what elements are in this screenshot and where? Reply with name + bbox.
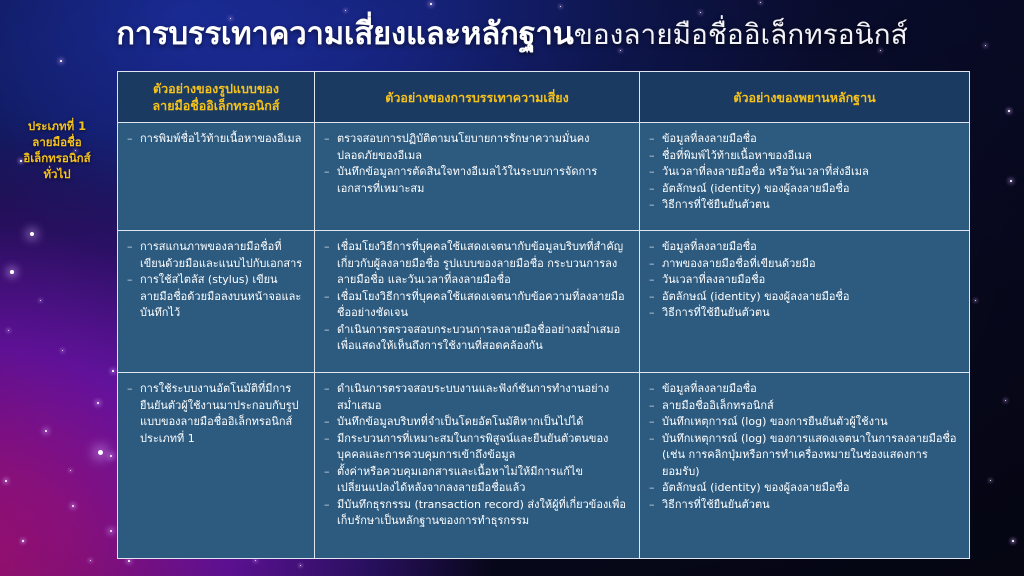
star-decoration	[60, 60, 62, 62]
forms-list: การใช้ระบบงานอัตโนมัติที่มีการยืนยันตัวผ…	[127, 381, 305, 447]
list-item: บันทึกเหตุการณ์ (log) ของการแสดงเจตนาในก…	[649, 431, 960, 481]
star-decoration	[10, 270, 14, 274]
list-item: การใช้ระบบงานอัตโนมัติที่มีการยืนยันตัวผ…	[127, 381, 305, 447]
star-decoration	[128, 560, 130, 562]
cell-forms: การพิมพ์ชื่อไว้ท้ายเนื้อหาของอีเมล	[118, 123, 315, 231]
evidence-list: ข้อมูลที่ลงลายมือชื่อลายมือชื่ออิเล็กทรอ…	[649, 381, 960, 513]
list-item: การพิมพ์ชื่อไว้ท้ายเนื้อหาของอีเมล	[127, 131, 305, 148]
list-item: ตั้งค่าหรือควบคุมเอกสารและเนื้อหาไม่ให้ม…	[324, 464, 630, 497]
list-item: ภาพของลายมือชื่อที่เขียนด้วยมือ	[649, 256, 960, 273]
mitigations-list: เชื่อมโยงวิธีการที่บุคคลใช้แสดงเจตนากับข…	[324, 239, 630, 355]
table-row: การพิมพ์ชื่อไว้ท้ายเนื้อหาของอีเมล ตรวจส…	[118, 123, 970, 231]
mitigations-list: ดำเนินการตรวจสอบระบบงานและฟังก์ชันการทำง…	[324, 381, 630, 530]
cell-evidence: ข้อมูลที่ลงลายมือชื่อภาพของลายมือชื่อที่…	[640, 231, 970, 373]
evidence-list: ข้อมูลที่ลงลายมือชื่อภาพของลายมือชื่อที่…	[649, 239, 960, 322]
list-item: ข้อมูลที่ลงลายมือชื่อ	[649, 381, 960, 398]
cell-forms: การสแกนภาพของลายมือชื่อที่เขียนด้วยมือแล…	[118, 231, 315, 373]
list-item: ลายมือชื่ออิเล็กทรอนิกส์	[649, 398, 960, 415]
list-item: ข้อมูลที่ลงลายมือชื่อ	[649, 131, 960, 148]
list-item: เชื่อมโยงวิธีการที่บุคคลใช้แสดงเจตนากับข…	[324, 239, 630, 289]
star-decoration	[430, 3, 432, 5]
column-header-evidence: ตัวอย่างของพยานหลักฐาน	[640, 72, 970, 123]
list-item: อัตลักษณ์ (identity) ของผู้ลงลายมือชื่อ	[649, 181, 960, 198]
list-item: มีบันทึกธุรกรรม (transaction record) ส่ง…	[324, 497, 630, 530]
list-item: บันทึกเหตุการณ์ (log) ของการยืนยันตัวผู้…	[649, 414, 960, 431]
cell-evidence: ข้อมูลที่ลงลายมือชื่อลายมือชื่ออิเล็กทรอ…	[640, 373, 970, 559]
table-header-row: ตัวอย่างของรูปแบบของลายมือชื่ออิเล็กทรอน…	[118, 72, 970, 123]
column-header-signature-forms: ตัวอย่างของรูปแบบของลายมือชื่ออิเล็กทรอน…	[118, 72, 315, 123]
star-decoration	[30, 232, 34, 236]
list-item: ตรวจสอบการปฏิบัติตามนโยบายการรักษาความมั…	[324, 131, 630, 164]
list-item: การสแกนภาพของลายมือชื่อที่เขียนด้วยมือแล…	[127, 239, 305, 272]
column-header-risk-mitigation: ตัวอย่างของการบรรเทาความเสี่ยง	[315, 72, 640, 123]
star-decoration	[112, 370, 114, 372]
list-item: การใช้สไตลัส (stylus) เขียนลายมือชื่อด้ว…	[127, 272, 305, 322]
cell-forms: การใช้ระบบงานอัตโนมัติที่มีการยืนยันตัวผ…	[118, 373, 315, 559]
table-row: การใช้ระบบงานอัตโนมัติที่มีการยืนยันตัวผ…	[118, 373, 970, 559]
star-decoration	[1008, 110, 1010, 112]
star-decoration	[1010, 180, 1012, 182]
star-decoration	[1012, 540, 1014, 542]
list-item: อัตลักษณ์ (identity) ของผู้ลงลายมือชื่อ	[649, 480, 960, 497]
list-item: บันทึกข้อมูลบริบทที่จำเป็นโดยอัตโนมัติหา…	[324, 414, 630, 431]
list-item: วันเวลาที่ลงลายมือชื่อ	[649, 272, 960, 289]
evidence-list: ข้อมูลที่ลงลายมือชื่อชื่อที่พิมพ์ไว้ท้าย…	[649, 131, 960, 214]
category-label: ประเภทที่ 1ลายมือชื่ออิเล็กทรอนิกส์ทั่วไ…	[2, 118, 112, 182]
list-item: ดำเนินการตรวจสอบระบบงานและฟังก์ชันการทำง…	[324, 381, 630, 414]
list-item: วิธีการที่ใช้ยืนยันตัวตน	[649, 197, 960, 214]
table-row: การสแกนภาพของลายมือชื่อที่เขียนด้วยมือแล…	[118, 231, 970, 373]
risk-evidence-table: ตัวอย่างของรูปแบบของลายมือชื่ออิเล็กทรอน…	[117, 71, 970, 559]
forms-list: การพิมพ์ชื่อไว้ท้ายเนื้อหาของอีเมล	[127, 131, 305, 148]
cell-mitigations: ดำเนินการตรวจสอบระบบงานและฟังก์ชันการทำง…	[315, 373, 640, 559]
star-decoration	[5, 480, 7, 482]
list-item: เชื่อมโยงวิธีการที่บุคคลใช้แสดงเจตนากับข…	[324, 289, 630, 322]
star-decoration	[98, 450, 103, 455]
list-item: มีกระบวนการที่เหมาะสมในการพิสูจน์และยืนย…	[324, 431, 630, 464]
cell-evidence: ข้อมูลที่ลงลายมือชื่อชื่อที่พิมพ์ไว้ท้าย…	[640, 123, 970, 231]
list-item: วิธีการที่ใช้ยืนยันตัวตน	[649, 497, 960, 514]
page-title-light: ของลายมือชื่ออิเล็กทรอนิกส์	[574, 18, 908, 51]
star-decoration	[97, 402, 99, 404]
cell-mitigations: ตรวจสอบการปฏิบัติตามนโยบายการรักษาความมั…	[315, 123, 640, 231]
list-item: อัตลักษณ์ (identity) ของผู้ลงลายมือชื่อ	[649, 289, 960, 306]
page-title-bold: การบรรเทาความเสี่ยงและหลักฐาน	[116, 16, 573, 52]
list-item: ชื่อที่พิมพ์ไว้ท้ายเนื้อหาของอีเมล	[649, 148, 960, 165]
list-item: ดำเนินการตรวจสอบกระบวนการลงลายมือชื่ออย่…	[324, 322, 630, 355]
cell-mitigations: เชื่อมโยงวิธีการที่บุคคลใช้แสดงเจตนากับข…	[315, 231, 640, 373]
list-item: วันเวลาที่ลงลายมือชื่อ หรือวันเวลาที่ส่ง…	[649, 164, 960, 181]
mitigations-list: ตรวจสอบการปฏิบัติตามนโยบายการรักษาความมั…	[324, 131, 630, 197]
star-decoration	[22, 540, 24, 542]
slide-canvas: การบรรเทาความเสี่ยงและหลักฐานของลายมือชื…	[0, 0, 1024, 576]
forms-list: การสแกนภาพของลายมือชื่อที่เขียนด้วยมือแล…	[127, 239, 305, 322]
list-item: วิธีการที่ใช้ยืนยันตัวตน	[649, 305, 960, 322]
page-title: การบรรเทาความเสี่ยงและหลักฐานของลายมือชื…	[0, 8, 1024, 58]
star-decoration	[72, 505, 74, 507]
list-item: ข้อมูลที่ลงลายมือชื่อ	[649, 239, 960, 256]
list-item: บันทึกข้อมูลการตัดสินใจทางอีเมลไว้ในระบบ…	[324, 164, 630, 197]
